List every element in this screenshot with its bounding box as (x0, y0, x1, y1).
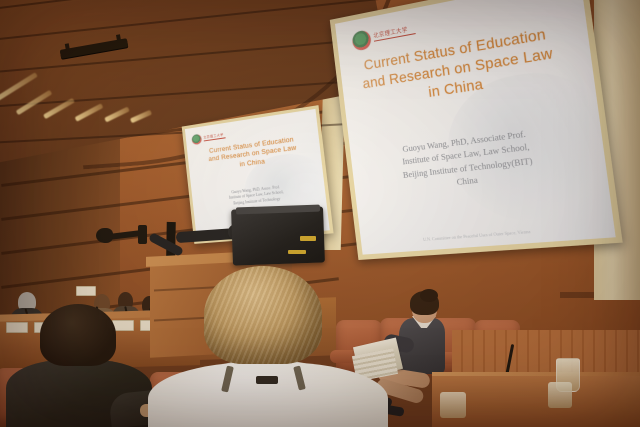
lanyard-clip (256, 376, 278, 384)
drinking-glass (440, 392, 466, 418)
wall-camera-mount (138, 225, 147, 244)
foreground-attendee-hair (204, 266, 322, 364)
conference-hall-photo: 北京理工大学 Current Status of Education and R… (0, 0, 640, 427)
nameplate (6, 322, 28, 333)
monitor-label (288, 250, 306, 254)
main-slide-footer: U.N. Committee on the Peaceful Uses of O… (371, 224, 593, 246)
bit-logo: 北京理工大学 (351, 21, 416, 52)
drinking-glass (548, 382, 572, 408)
main-slide: 北京理工大学 Current Status of Education and R… (335, 0, 616, 255)
left-attendee-hair (40, 304, 116, 366)
front-desk-panel (452, 330, 640, 378)
nameplate (76, 286, 96, 296)
wall-camera-icon (96, 228, 113, 243)
bit-logo-mark (351, 29, 371, 51)
seated-woman-hair-bun (420, 289, 438, 302)
foreground-attendee-shirt (148, 362, 388, 427)
bit-logo-mark (191, 134, 202, 145)
bit-logo: 北京理工大学 (191, 130, 225, 145)
main-projection-screen: 北京理工大学 Current Status of Education and R… (330, 0, 623, 260)
monitor-label (300, 236, 316, 241)
